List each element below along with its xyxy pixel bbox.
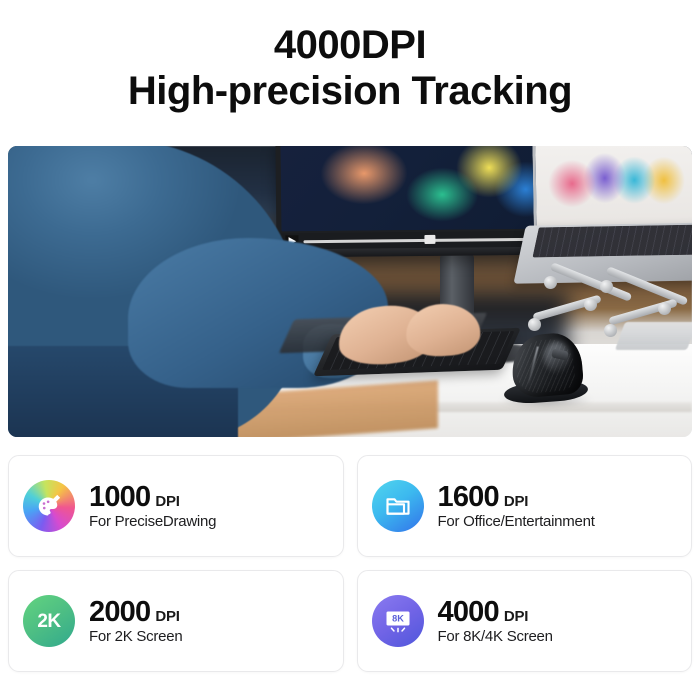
palette-brush-icon: [23, 480, 75, 532]
laptop-stand-joint: [584, 298, 597, 311]
dpi-card-4000[interactable]: 8K 4000 DPI For 8K/4K Screen: [357, 570, 693, 672]
dpi-subtitle: For 8K/4K Screen: [438, 628, 553, 645]
desk-object-right: [615, 322, 692, 350]
card-text-1600: 1600 DPI For Office/Entertainment: [438, 482, 595, 530]
folder-icon: [372, 480, 424, 532]
headline-line-1: 4000DPI: [0, 22, 700, 68]
dpi-unit: DPI: [504, 493, 528, 510]
card-headline-1000: 1000 DPI: [89, 482, 216, 512]
dpi-cards-grid: 1000 DPI For PreciseDrawing 1600 DPI For…: [8, 455, 692, 672]
dpi-card-1600[interactable]: 1600 DPI For Office/Entertainment: [357, 455, 693, 557]
card-headline-2000: 2000 DPI: [89, 597, 182, 627]
dpi-unit: DPI: [155, 493, 179, 510]
dpi-subtitle: For 2K Screen: [89, 628, 182, 645]
card-text-1000: 1000 DPI For PreciseDrawing: [89, 482, 216, 530]
progress-bar: [303, 237, 555, 243]
2k-badge-label: 2K: [37, 612, 60, 631]
dpi-card-1000[interactable]: 1000 DPI For PreciseDrawing: [8, 455, 344, 557]
product-feature-page: 4000DPI High-precision Tracking: [0, 0, 700, 700]
laptop-stand-joint: [544, 276, 557, 289]
dpi-value: 1000: [89, 482, 150, 512]
dpi-unit: DPI: [155, 608, 179, 625]
card-headline-4000: 4000 DPI: [438, 597, 553, 627]
dpi-value: 2000: [89, 597, 150, 627]
external-monitor: [275, 146, 564, 258]
dpi-value: 4000: [438, 597, 499, 627]
card-text-4000: 4000 DPI For 8K/4K Screen: [438, 597, 553, 645]
dpi-value: 1600: [438, 482, 499, 512]
laptop-keyboard: [532, 225, 692, 258]
vertical-ergonomic-mouse: [498, 334, 594, 406]
dpi-card-2000[interactable]: 2K 2000 DPI For 2K Screen: [8, 570, 344, 672]
8k-screen-icon: 8K: [372, 595, 424, 647]
8k-screen-label: 8K: [392, 614, 404, 624]
headline-line-2: High-precision Tracking: [0, 68, 700, 114]
hero-photo: [8, 146, 692, 437]
laptop-stand-joint: [528, 318, 541, 331]
headline-block: 4000DPI High-precision Tracking: [0, 0, 700, 115]
dpi-subtitle: For PreciseDrawing: [89, 513, 216, 530]
2k-badge-icon: 2K: [23, 595, 75, 647]
card-headline-1600: 1600 DPI: [438, 482, 595, 512]
card-text-2000: 2000 DPI For 2K Screen: [89, 597, 182, 645]
laptop-screen: [532, 146, 692, 227]
monitor-wallpaper: [280, 146, 559, 231]
laptop-stand-joint: [658, 302, 671, 315]
dpi-subtitle: For Office/Entertainment: [438, 513, 595, 530]
dpi-unit: DPI: [504, 608, 528, 625]
laptop-stand-joint: [604, 324, 617, 337]
laptop-stand-joint: [600, 280, 613, 293]
